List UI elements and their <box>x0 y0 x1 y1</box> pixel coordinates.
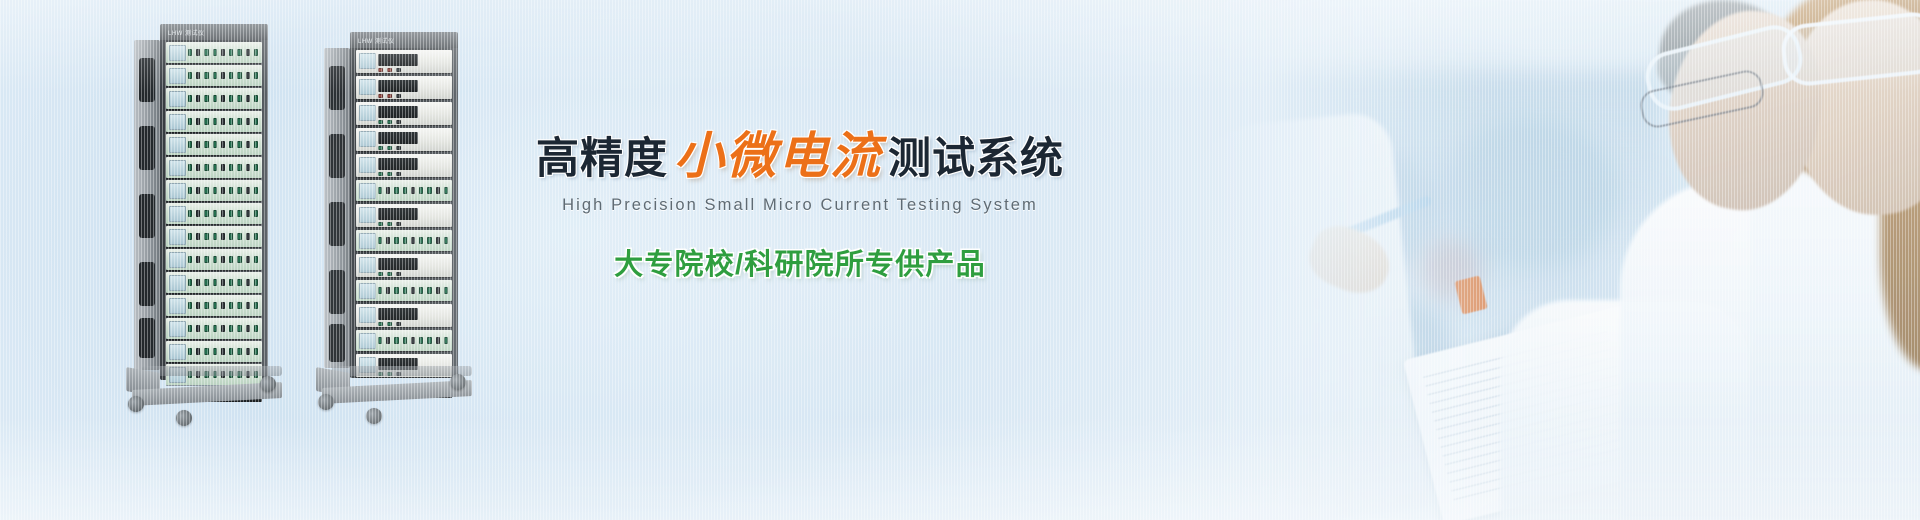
title-segment-highlight: 小微电流 <box>668 126 888 185</box>
instrument-unit <box>356 180 452 201</box>
unit-display <box>169 137 186 153</box>
caster-wheel <box>366 408 382 424</box>
unit-indicators <box>188 346 258 357</box>
photo-blue-wash <box>1190 0 1920 520</box>
unit-indicators <box>188 116 258 127</box>
unit-screen <box>378 308 418 320</box>
rack-left: LHW 测试仪 <box>120 18 290 418</box>
instrument-unit <box>166 180 262 201</box>
instrument-unit <box>356 230 452 251</box>
unit-display <box>169 298 186 314</box>
rack-vent-slot <box>329 134 345 178</box>
unit-display <box>359 157 376 173</box>
unit-display <box>359 207 376 223</box>
unit-indicators <box>378 93 448 98</box>
rack-vent-slot <box>139 58 155 102</box>
unit-indicators <box>378 285 448 296</box>
rack-vent-slot <box>329 324 345 362</box>
unit-indicators <box>188 70 258 81</box>
unit-indicators <box>188 300 258 311</box>
instrument-unit <box>166 111 262 132</box>
unit-indicators <box>378 119 448 124</box>
instrument-unit <box>356 304 452 327</box>
instrument-unit <box>356 280 452 301</box>
unit-indicators <box>188 139 258 150</box>
unit-display <box>359 79 376 95</box>
unit-display <box>169 206 186 222</box>
instrument-unit <box>166 341 262 362</box>
instrument-unit <box>166 295 262 316</box>
unit-indicators <box>378 171 448 176</box>
instrument-unit <box>356 50 452 73</box>
instrument-unit <box>166 42 262 63</box>
rack-right: LHW 测试仪 <box>310 26 480 416</box>
rack-base-rail <box>142 366 282 376</box>
lab-photo <box>1190 0 1920 520</box>
unit-display <box>359 105 376 121</box>
unit-display <box>359 53 376 69</box>
unit-display <box>359 283 376 299</box>
banner-text-block: 高精度小微电流测试系统 High Precision Small Micro C… <box>520 128 1080 283</box>
product-banner: LHW 测试仪 <box>0 0 1920 520</box>
unit-indicators <box>188 231 258 242</box>
instrument-unit <box>356 76 452 99</box>
unit-screen <box>378 258 418 270</box>
unit-display <box>169 252 186 268</box>
unit-screen <box>378 132 418 144</box>
instrument-unit <box>166 272 262 293</box>
unit-display <box>169 321 186 337</box>
title-segment-prefix: 高精度 <box>536 135 668 183</box>
unit-display <box>359 257 376 273</box>
unit-screen <box>378 158 418 170</box>
instrument-unit <box>166 249 262 270</box>
caster-wheel <box>450 374 466 390</box>
rack-vent-slot <box>329 202 345 246</box>
instrument-unit <box>166 318 262 339</box>
unit-display <box>359 307 376 323</box>
unit-indicators <box>378 67 448 72</box>
unit-display <box>359 233 376 249</box>
unit-indicators <box>188 185 258 196</box>
unit-indicators <box>188 162 258 173</box>
unit-indicators <box>378 321 448 326</box>
rack-vent-slot <box>139 126 155 170</box>
instrument-unit <box>166 157 262 178</box>
unit-indicators <box>378 221 448 226</box>
unit-screen <box>378 106 418 118</box>
unit-display <box>169 183 186 199</box>
unit-indicators <box>188 277 258 288</box>
instrument-unit <box>356 128 452 151</box>
rack-vent-slot <box>329 66 345 110</box>
rack-brand-label: LHW 测试仪 <box>168 28 205 37</box>
instrument-unit <box>166 65 262 86</box>
unit-indicators <box>188 254 258 265</box>
unit-screen <box>378 208 418 220</box>
instrument-unit <box>356 102 452 125</box>
unit-indicators <box>188 47 258 58</box>
rack-unit-list <box>356 50 452 377</box>
unit-indicators <box>378 185 448 196</box>
unit-indicators <box>378 145 448 150</box>
caster-wheel <box>318 394 334 410</box>
unit-display <box>169 91 186 107</box>
rack-vent-slot <box>329 270 345 314</box>
banner-title: 高精度小微电流测试系统 <box>520 128 1080 184</box>
unit-display <box>169 229 186 245</box>
unit-display <box>169 114 186 130</box>
unit-screen <box>378 80 418 92</box>
unit-indicators <box>188 208 258 219</box>
rack-brand-label: LHW 测试仪 <box>358 36 395 45</box>
rack-vent-slot <box>139 262 155 306</box>
instrument-unit <box>356 154 452 177</box>
instrument-unit <box>356 254 452 277</box>
banner-subtitle-english: High Precision Small Micro Current Testi… <box>520 196 1080 215</box>
unit-indicators <box>378 235 448 246</box>
rack-vent-slot <box>139 318 155 358</box>
unit-display <box>169 344 186 360</box>
unit-indicators <box>378 335 448 346</box>
instrument-unit <box>166 134 262 155</box>
unit-indicators <box>378 271 448 276</box>
instrument-unit <box>166 226 262 247</box>
unit-display <box>359 131 376 147</box>
caster-wheel <box>128 396 144 412</box>
rack-vent-slot <box>139 194 155 238</box>
unit-display <box>169 275 186 291</box>
unit-display <box>359 183 376 199</box>
unit-indicators <box>188 323 258 334</box>
instrument-unit <box>356 330 452 351</box>
unit-display <box>169 160 186 176</box>
caster-wheel <box>260 376 276 392</box>
unit-display <box>169 45 186 61</box>
unit-display <box>359 333 376 349</box>
rack-unit-list <box>166 42 262 385</box>
unit-screen <box>378 54 418 66</box>
title-segment-suffix: 测试系统 <box>888 135 1064 183</box>
unit-indicators <box>188 93 258 104</box>
unit-display <box>169 68 186 84</box>
banner-tagline: 大专院校/科研院所专供产品 <box>520 241 1080 283</box>
caster-wheel <box>176 410 192 426</box>
instrument-unit <box>166 88 262 109</box>
rack-base-rail <box>332 366 472 376</box>
instrument-unit <box>166 203 262 224</box>
instrument-unit <box>356 204 452 227</box>
